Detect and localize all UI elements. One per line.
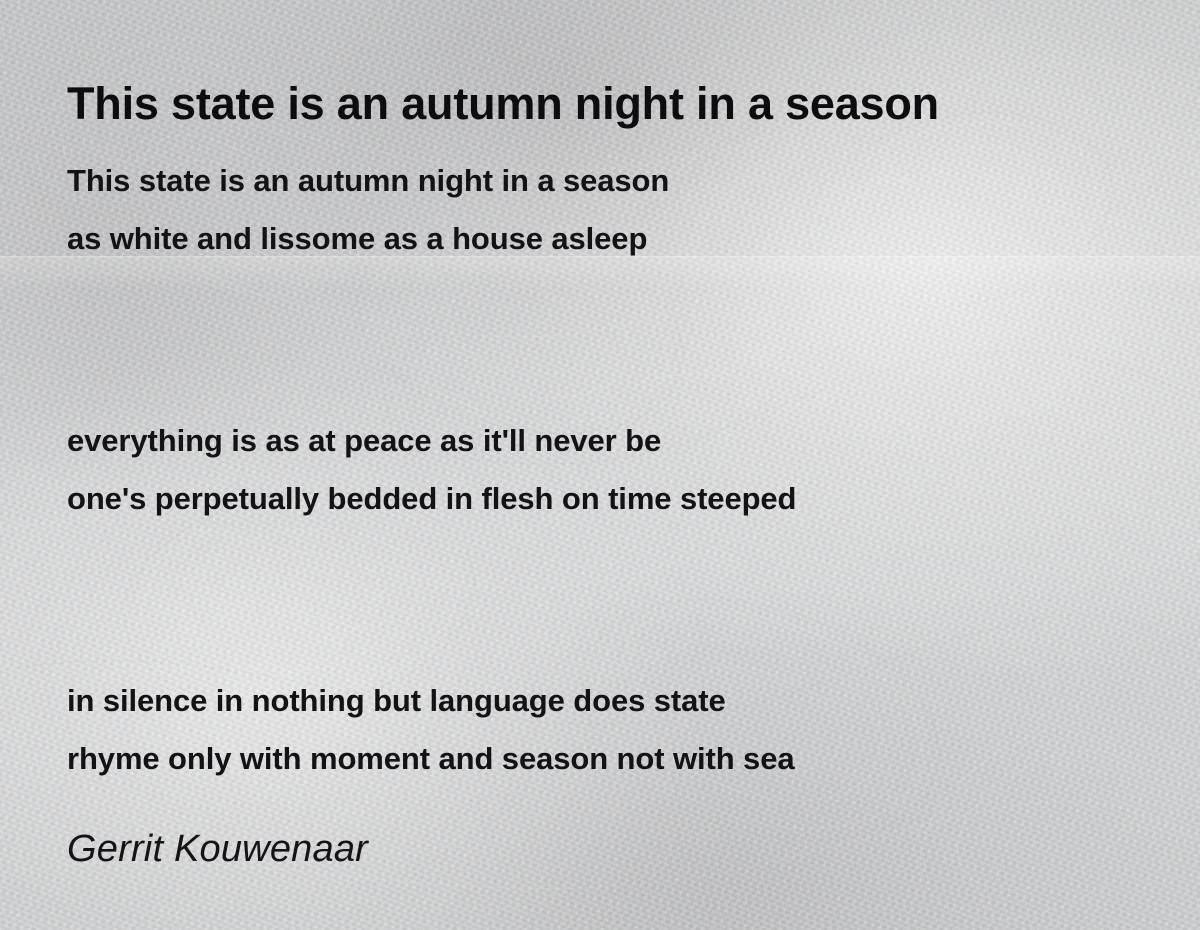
poem-stanza-3: in silence in nothing but language does … xyxy=(67,672,794,788)
poem-line: rhyme only with moment and season not wi… xyxy=(67,730,794,788)
poem-stanza-2: everything is as at peace as it'll never… xyxy=(67,412,796,528)
poem-stanza-1: This state is an autumn night in a seaso… xyxy=(67,152,669,268)
poem-line: in silence in nothing but language does … xyxy=(67,672,794,730)
poem-line: as white and lissome as a house asleep xyxy=(67,210,669,268)
poem-line: This state is an autumn night in a seaso… xyxy=(67,152,669,210)
poem-card: This state is an autumn night in a seaso… xyxy=(0,0,1200,930)
poem-title: This state is an autumn night in a seaso… xyxy=(67,80,939,127)
poem-author: Gerrit Kouwenaar xyxy=(67,828,368,871)
poem-line: one's perpetually bedded in flesh on tim… xyxy=(67,470,796,528)
poem-line: everything is as at peace as it'll never… xyxy=(67,412,796,470)
